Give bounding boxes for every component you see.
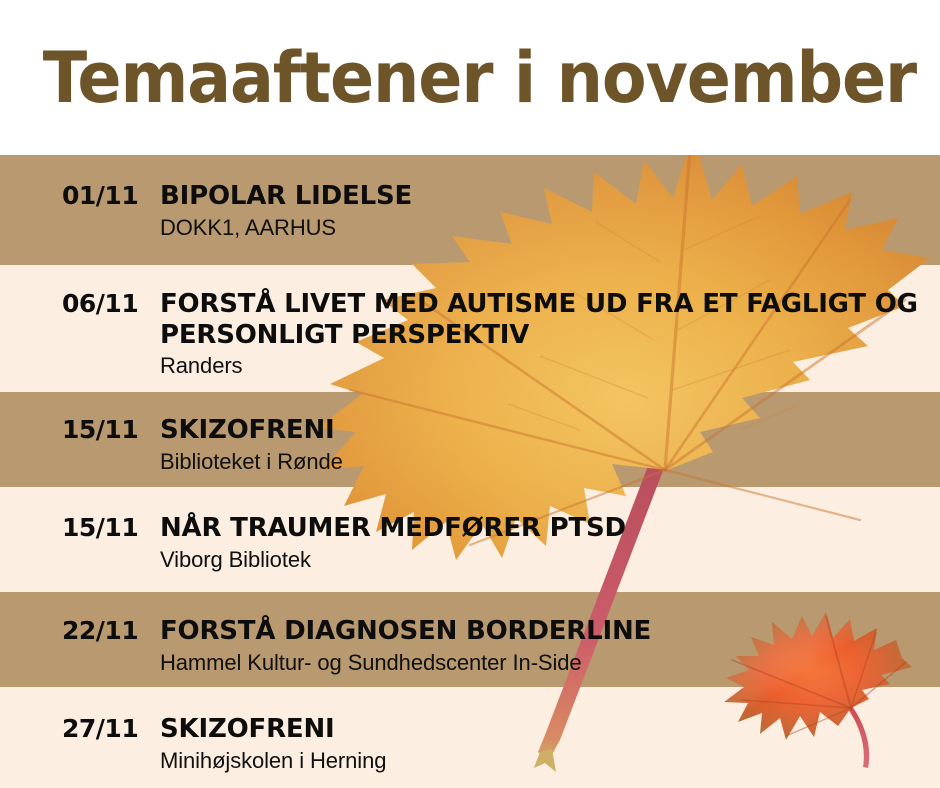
schedule-row[interactable]: 15/11 SKIZOFRENI Biblioteket i Rønde bbox=[0, 392, 940, 487]
event-location: Viborg Bibliotek bbox=[160, 546, 930, 574]
event-location: Biblioteket i Rønde bbox=[160, 448, 930, 476]
event-location: Hammel Kultur- og Sundhedscenter In-Side bbox=[160, 649, 930, 677]
event-date: 06/11 bbox=[0, 289, 160, 318]
event-title: FORSTÅ DIAGNOSEN BORDERLINE bbox=[160, 616, 930, 647]
event-date: 15/11 bbox=[0, 513, 160, 542]
event-info: FORSTÅ DIAGNOSEN BORDERLINE Hammel Kultu… bbox=[160, 616, 940, 676]
event-info: FORSTÅ LIVET MED AUTISME UD FRA ET FAGLI… bbox=[160, 289, 940, 380]
event-date: 27/11 bbox=[0, 714, 160, 743]
event-location: Randers bbox=[160, 352, 930, 380]
page-title: Temaaftener i november bbox=[0, 43, 916, 113]
event-title: FORSTÅ LIVET MED AUTISME UD FRA ET FAGLI… bbox=[160, 289, 930, 350]
schedule-row[interactable]: 27/11 SKIZOFRENI Minihøjskolen i Herning bbox=[0, 687, 940, 788]
event-title: NÅR TRAUMER MEDFØRER PTSD bbox=[160, 513, 930, 544]
event-info: BIPOLAR LIDELSE DOKK1, AARHUS bbox=[160, 181, 940, 241]
event-date: 01/11 bbox=[0, 181, 160, 210]
event-location: Minihøjskolen i Herning bbox=[160, 747, 930, 775]
event-date: 22/11 bbox=[0, 616, 160, 645]
event-location: DOKK1, AARHUS bbox=[160, 214, 930, 242]
schedule-row[interactable]: 06/11 FORSTÅ LIVET MED AUTISME UD FRA ET… bbox=[0, 265, 940, 392]
event-info: SKIZOFRENI Biblioteket i Rønde bbox=[160, 415, 940, 475]
schedule-row[interactable]: 15/11 NÅR TRAUMER MEDFØRER PTSD Viborg B… bbox=[0, 487, 940, 592]
event-date: 15/11 bbox=[0, 415, 160, 444]
poster-canvas: Temaaftener i november 01/11 BIPOLAR LID… bbox=[0, 0, 940, 788]
schedule-row[interactable]: 22/11 FORSTÅ DIAGNOSEN BORDERLINE Hammel… bbox=[0, 592, 940, 687]
event-title: SKIZOFRENI bbox=[160, 714, 930, 745]
schedule-row[interactable]: 01/11 BIPOLAR LIDELSE DOKK1, AARHUS bbox=[0, 155, 940, 265]
event-title: BIPOLAR LIDELSE bbox=[160, 181, 930, 212]
poster-header: Temaaftener i november bbox=[0, 0, 940, 155]
schedule-list: 01/11 BIPOLAR LIDELSE DOKK1, AARHUS 06/1… bbox=[0, 155, 940, 788]
event-info: SKIZOFRENI Minihøjskolen i Herning bbox=[160, 714, 940, 774]
event-title: SKIZOFRENI bbox=[160, 415, 930, 446]
event-info: NÅR TRAUMER MEDFØRER PTSD Viborg Bibliot… bbox=[160, 513, 940, 573]
